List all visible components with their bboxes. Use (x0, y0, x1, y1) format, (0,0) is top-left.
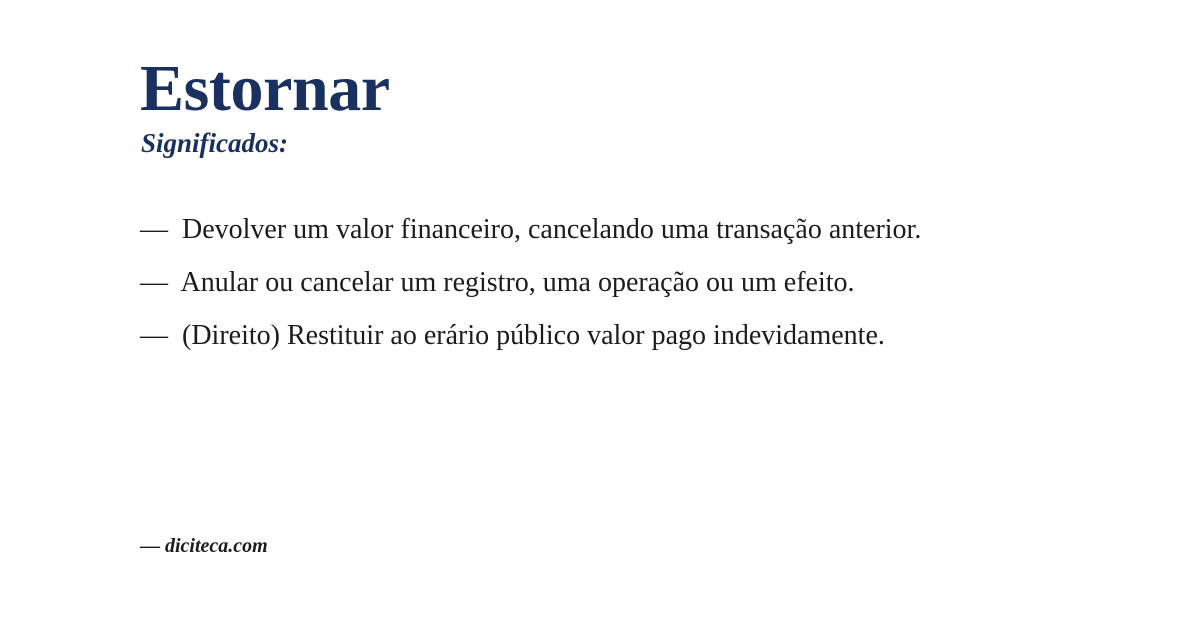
definition-text: Devolver um valor financeiro, cancelando… (182, 214, 921, 245)
source-name: diciteca.com (165, 535, 268, 557)
en-dash-icon: — (140, 535, 165, 557)
list-item: — (Direito) Restituir ao erário público … (140, 318, 1045, 353)
em-dash-icon: — (140, 267, 180, 298)
page-title: Estornar (140, 56, 390, 122)
list-item: — Devolver um valor financeiro, cancelan… (140, 212, 1045, 247)
em-dash-icon: — (140, 320, 182, 351)
definition-text: (Direito) Restituir ao erário público va… (182, 320, 885, 351)
definition-text: Anular ou cancelar um registro, uma oper… (180, 267, 854, 298)
definitions-list: — Devolver um valor financeiro, cancelan… (140, 212, 1045, 353)
definition-card: Estornar Significados: — Devolver um val… (0, 0, 1200, 628)
list-item: — Anular ou cancelar um registro, uma op… (140, 265, 1045, 300)
meanings-label: Significados: (141, 128, 288, 159)
source-attribution: — diciteca.com (140, 534, 268, 558)
em-dash-icon: — (140, 214, 182, 245)
